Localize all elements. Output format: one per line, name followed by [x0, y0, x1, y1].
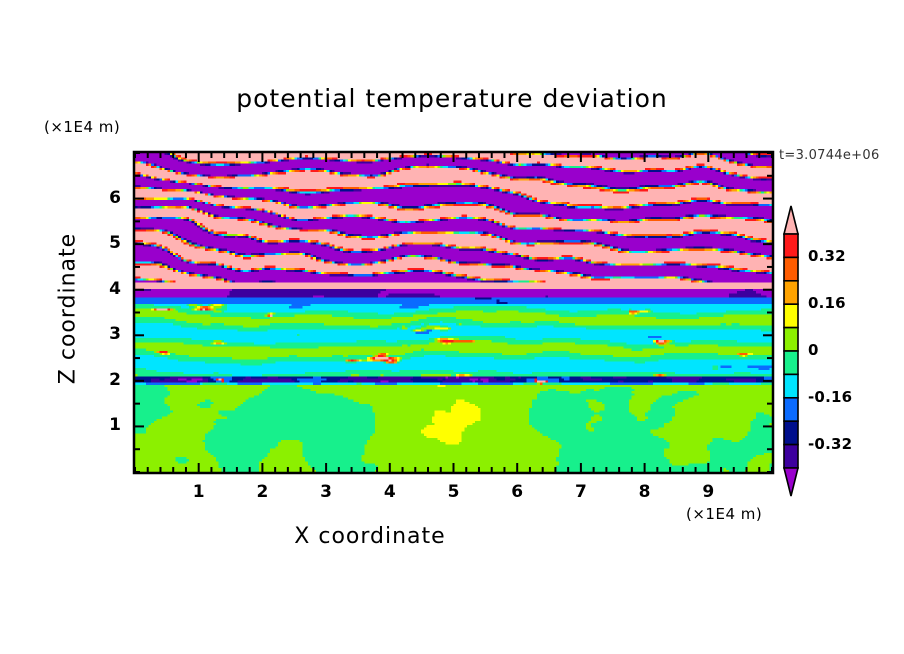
x-tick-label: 8 [625, 482, 665, 502]
colorbar-band [784, 257, 798, 280]
y-tick-label: 6 [89, 188, 121, 208]
colorbar-extend-max [784, 206, 798, 234]
x-tick-label: 9 [688, 482, 728, 502]
x-tick-label: 1 [179, 482, 219, 502]
colorbar-tick-label: 0.32 [808, 247, 846, 265]
colorbar-band [784, 351, 798, 374]
plot-svg [0, 0, 904, 654]
y-tick-label: 5 [89, 233, 121, 253]
y-tick-label: 4 [89, 279, 121, 299]
colorbar-band [784, 398, 798, 421]
colorbar-tick-label: 0.16 [808, 294, 846, 312]
x-tick-label: 3 [306, 482, 346, 502]
colorbar-tick-label: -0.32 [808, 435, 852, 453]
colorbar-extend-min [784, 468, 798, 496]
y-tick-label: 1 [89, 415, 121, 435]
y-tick-label: 3 [89, 324, 121, 344]
colorbar-tick-label: -0.16 [808, 388, 852, 406]
x-tick-label: 2 [242, 482, 282, 502]
colorbar-band [784, 445, 798, 468]
contour-field [135, 153, 773, 473]
colorbar [784, 206, 798, 496]
x-tick-label: 5 [434, 482, 474, 502]
colorbar-tick-label: 0 [808, 341, 819, 359]
y-tick-label: 2 [89, 370, 121, 390]
colorbar-band [784, 234, 798, 257]
colorbar-band [784, 281, 798, 304]
x-tick-label: 4 [370, 482, 410, 502]
x-tick-label: 7 [561, 482, 601, 502]
colorbar-band [784, 421, 798, 444]
colorbar-band [784, 374, 798, 397]
x-tick-label: 6 [497, 482, 537, 502]
colorbar-band [784, 328, 798, 351]
figure-canvas: potential temperature deviation (×1E4 m)… [0, 0, 904, 654]
colorbar-band [784, 304, 798, 327]
